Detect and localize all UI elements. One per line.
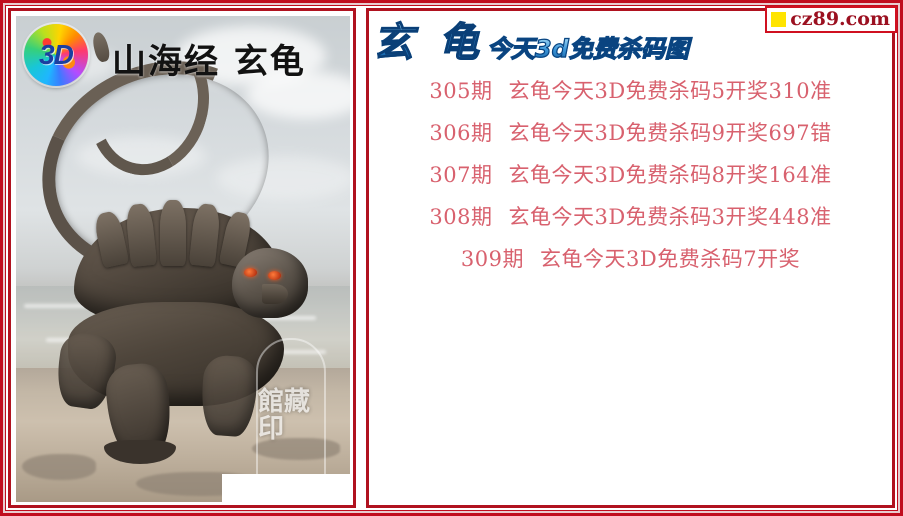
turtle-beak [262, 284, 288, 304]
list-item[interactable]: 308期 玄龟今天3D免费杀码3开奖448准 [369, 195, 892, 237]
left-image-panel: 館藏印 3D 山海经 玄龟 [8, 8, 356, 508]
issue-description: 玄龟今天3D免费杀码3开奖448准 [508, 201, 831, 231]
issue-description: 玄龟今天3D免费杀码5开奖310准 [508, 75, 831, 105]
banner-title-sub: 今天3d免费杀码图 [487, 37, 689, 65]
list-item[interactable]: 305期 玄龟今天3D免费杀码5开奖310准 [369, 69, 892, 111]
yellow-square-icon [771, 12, 786, 27]
site-logo-label: 3D [24, 24, 88, 86]
banner-heading: 玄 龟 今天3d免费杀码图 [373, 13, 689, 65]
issue-description: 玄龟今天3D免费杀码9开奖697错 [508, 117, 831, 147]
shell-ridge [160, 200, 186, 266]
page-title: 山海经 玄龟 [112, 34, 306, 83]
site-logo-icon[interactable]: 3D [24, 24, 88, 86]
seal-watermark: 館藏印 [256, 338, 326, 494]
list-item[interactable]: 307期 玄龟今天3D免费杀码8开奖164准 [369, 153, 892, 195]
issue-description: 玄龟今天3D免费杀码8开奖164准 [508, 159, 831, 189]
right-content-panel: 玄 龟 今天3d免费杀码图 305期 玄龟今天3D免费杀码5开奖310准 306… [366, 8, 895, 508]
brand-logo-text: cz89.com [790, 10, 890, 29]
turtle-eye-icon [244, 268, 257, 277]
blank-overlay-box [222, 474, 350, 502]
issue-description: 玄龟今天3D免费杀码7开奖 [540, 243, 800, 273]
turtle-photo: 館藏印 3D 山海经 玄龟 [16, 16, 350, 502]
turtle-foot [104, 440, 176, 464]
page-root: 館藏印 3D 山海经 玄龟 玄 龟 今天3d免费杀码图 305期 玄龟今天3D免… [0, 0, 903, 516]
issue-number: 308期 [429, 201, 492, 231]
turtle-eye-icon [268, 271, 281, 280]
list-item[interactable]: 306期 玄龟今天3D免费杀码9开奖697错 [369, 111, 892, 153]
results-list: 305期 玄龟今天3D免费杀码5开奖310准 306期 玄龟今天3D免费杀码9开… [369, 69, 892, 279]
issue-number: 307期 [429, 159, 492, 189]
issue-number: 305期 [429, 75, 492, 105]
left-panel-header: 3D 山海经 玄龟 [16, 16, 350, 94]
turtle-head [232, 248, 308, 318]
issue-number: 306期 [429, 117, 492, 147]
issue-number: 309期 [461, 243, 524, 273]
turtle-leg-right [199, 354, 258, 438]
banner-title-main: 玄 龟 [373, 23, 485, 65]
list-item[interactable]: 309期 玄龟今天3D免费杀码7开奖 [369, 237, 892, 279]
brand-logo[interactable]: cz89.com [765, 6, 897, 33]
